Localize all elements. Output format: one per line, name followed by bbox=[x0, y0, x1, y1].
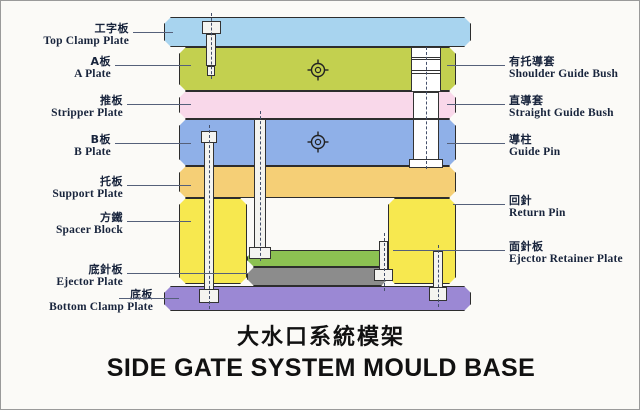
leader-b-plate bbox=[115, 143, 191, 144]
label-return-pin-en: Return Pin bbox=[509, 207, 566, 219]
label-return-pin-cn: 回針 bbox=[509, 195, 566, 207]
part-support-plate-outline bbox=[179, 166, 456, 198]
label-top-clamp-plate-en: Top Clamp Plate bbox=[1, 35, 129, 47]
label-ejector-retainer-plate-en: Ejector Retainer Plate bbox=[509, 253, 623, 265]
label-top-clamp-plate: 工字板 Top Clamp Plate bbox=[1, 23, 129, 47]
label-straight-guide-bush-cn: 直導套 bbox=[509, 95, 614, 107]
center-ejector-centerline bbox=[260, 111, 261, 261]
label-support-plate-cn: 托板 bbox=[1, 176, 123, 188]
leader-bottom-clamp-plate bbox=[119, 298, 179, 299]
label-straight-guide-bush-en: Straight Guide Bush bbox=[509, 107, 614, 119]
ejector-pin-left-centerline bbox=[209, 125, 210, 309]
label-guide-pin-cn: 導柱 bbox=[509, 134, 560, 146]
label-stripper-plate-en: Stripper Plate bbox=[1, 107, 123, 119]
label-spacer-block-en: Spacer Block bbox=[1, 224, 123, 236]
label-support-plate: 托板 Support Plate bbox=[1, 176, 123, 200]
mould-base-diagram-page: 工字板 Top Clamp Plate A板 A Plate 推板 Stripp… bbox=[0, 0, 640, 410]
leader-shoulder-guide-bush bbox=[447, 65, 505, 66]
label-guide-pin-en: Guide Pin bbox=[509, 146, 560, 158]
label-b-plate: B板 B Plate bbox=[1, 134, 111, 158]
label-stripper-plate: 推板 Stripper Plate bbox=[1, 95, 123, 119]
label-guide-pin: 導柱 Guide Pin bbox=[509, 134, 560, 158]
label-ejector-plate-cn: 底針板 bbox=[1, 264, 123, 276]
leader-ejector-retainer-plate bbox=[393, 250, 505, 251]
label-ejector-retainer-plate-cn: 面針板 bbox=[509, 241, 623, 253]
top-socket-bolt-centerline bbox=[211, 13, 212, 79]
label-a-plate: A板 A Plate bbox=[1, 56, 111, 80]
label-shoulder-guide-bush: 有托導套 Shoulder Guide Bush bbox=[509, 56, 618, 80]
label-top-clamp-plate-cn: 工字板 bbox=[1, 23, 129, 35]
leader-stripper-plate bbox=[127, 104, 191, 105]
leader-spacer-block bbox=[127, 221, 191, 222]
leader-top-clamp-plate bbox=[133, 32, 173, 33]
label-bottom-clamp-plate-en: Bottom Clamp Plate bbox=[1, 301, 153, 313]
crosshair-target-icon-a-plate bbox=[307, 59, 329, 81]
leader-guide-pin bbox=[447, 143, 505, 144]
page-title-en: SIDE GATE SYSTEM MOULD BASE bbox=[1, 354, 640, 383]
crosshair-target-icon-b-plate bbox=[307, 131, 329, 153]
label-bottom-clamp-plate: 底板 Bottom Clamp Plate bbox=[1, 289, 153, 313]
label-spacer-block-cn: 方鐵 bbox=[1, 212, 123, 224]
label-stripper-plate-cn: 推板 bbox=[1, 95, 123, 107]
part-spacer-block-right-outline bbox=[388, 198, 456, 284]
label-ejector-retainer-plate: 面針板 Ejector Retainer Plate bbox=[509, 241, 623, 265]
title-block: 大水口系統模架 SIDE GATE SYSTEM MOULD BASE bbox=[1, 319, 640, 383]
leader-ejector-plate bbox=[127, 273, 247, 274]
label-a-plate-en: A Plate bbox=[1, 68, 111, 80]
leader-a-plate bbox=[115, 65, 191, 66]
label-straight-guide-bush: 直導套 Straight Guide Bush bbox=[509, 95, 614, 119]
part-ejector-plate-outline bbox=[247, 267, 388, 286]
return-pin-inner-centerline bbox=[384, 233, 385, 291]
label-return-pin: 回針 Return Pin bbox=[509, 195, 566, 219]
label-spacer-block: 方鐵 Spacer Block bbox=[1, 212, 123, 236]
guide-pin-centerline bbox=[426, 47, 427, 169]
label-a-plate-cn: A板 bbox=[1, 56, 111, 68]
label-ejector-plate-en: Ejector Plate bbox=[1, 276, 123, 288]
return-pin-outer-centerline bbox=[438, 245, 439, 307]
label-b-plate-en: B Plate bbox=[1, 146, 111, 158]
leader-return-pin bbox=[453, 204, 505, 205]
label-b-plate-cn: B板 bbox=[1, 134, 111, 146]
page-title-cn: 大水口系統模架 bbox=[1, 319, 640, 351]
label-ejector-plate: 底針板 Ejector Plate bbox=[1, 264, 123, 288]
label-shoulder-guide-bush-en: Shoulder Guide Bush bbox=[509, 68, 618, 80]
leader-straight-guide-bush bbox=[447, 104, 505, 105]
label-shoulder-guide-bush-cn: 有托導套 bbox=[509, 56, 618, 68]
leader-support-plate bbox=[127, 185, 191, 186]
label-support-plate-en: Support Plate bbox=[1, 188, 123, 200]
